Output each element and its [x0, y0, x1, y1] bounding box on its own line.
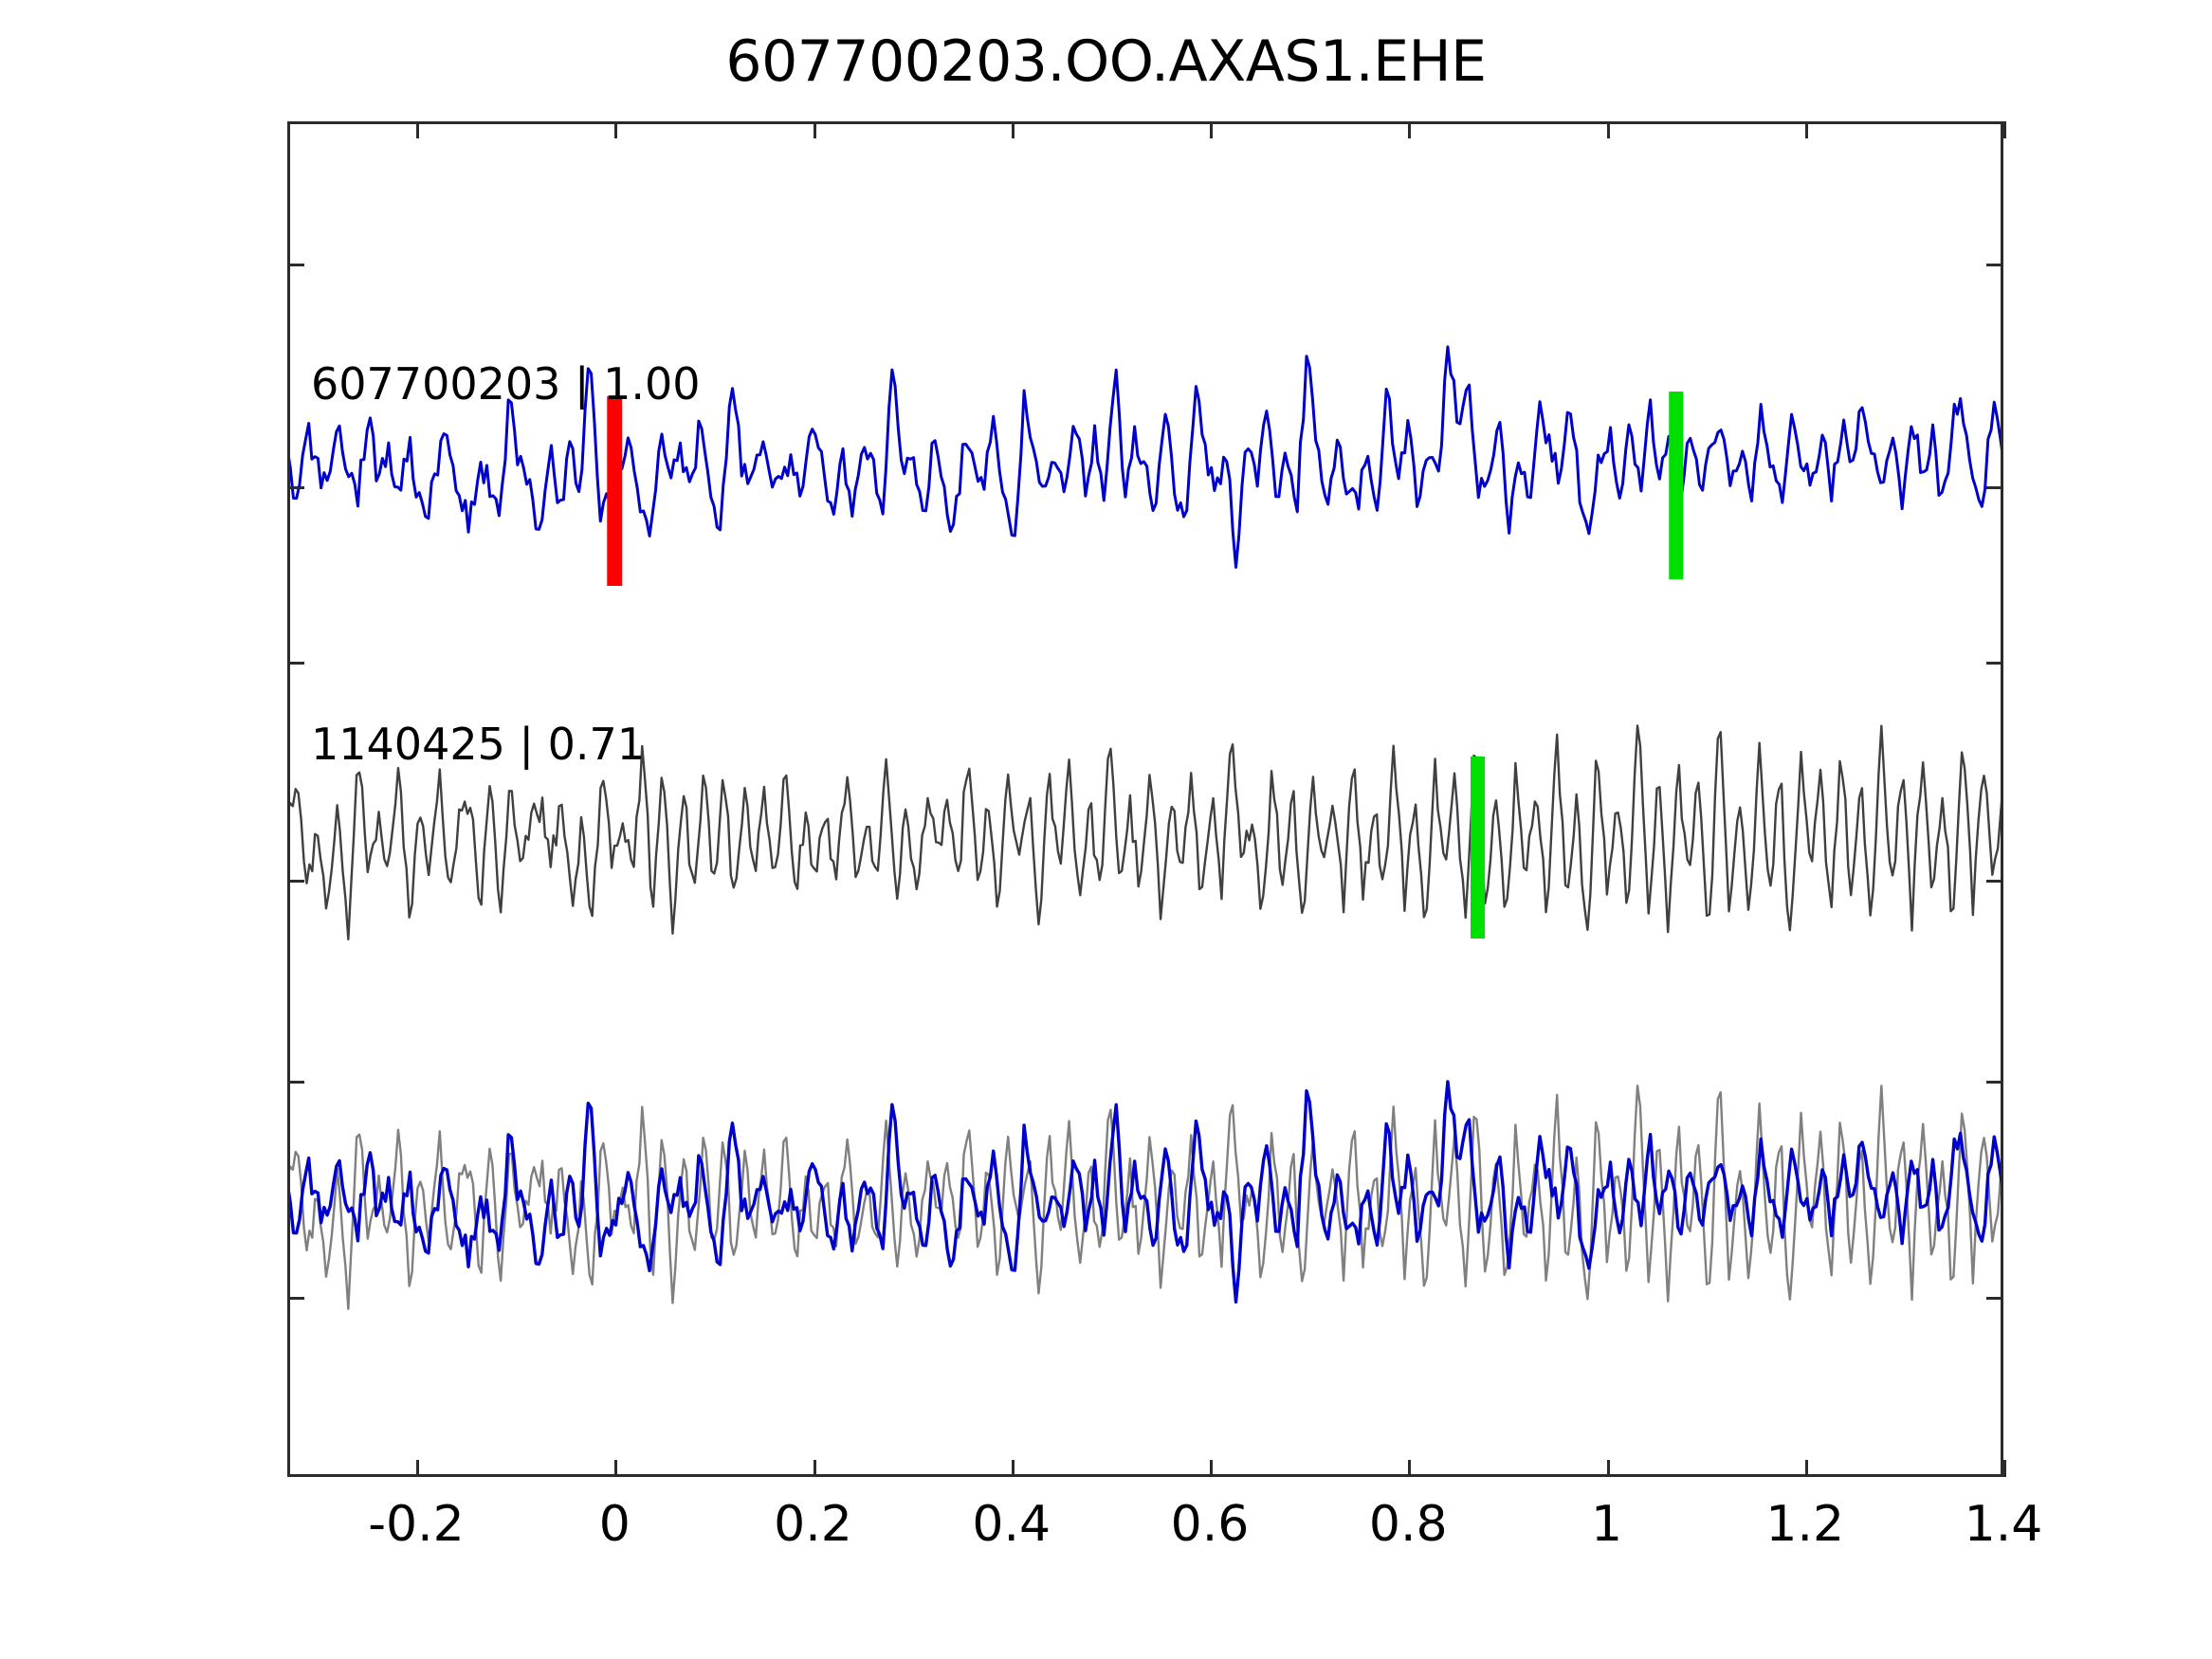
x-tick-top: [1012, 121, 1015, 138]
pick-marker-detection-green: [1471, 757, 1485, 939]
x-tick-bottom: [1012, 1460, 1015, 1477]
x-tick-top: [1607, 121, 1610, 138]
y-tick: [287, 880, 304, 883]
y-tick: [287, 662, 304, 665]
y-tick: [1986, 1297, 2003, 1300]
y-tick: [287, 486, 304, 489]
x-tick-label: 1.4: [1965, 1496, 2043, 1553]
y-tick: [1986, 264, 2003, 266]
x-tick-label: -0.2: [368, 1496, 464, 1553]
x-tick-top: [614, 121, 617, 138]
y-tick: [287, 1081, 304, 1084]
x-tick-bottom: [814, 1460, 816, 1477]
x-tick-bottom: [2003, 1460, 2006, 1477]
x-tick-top: [1805, 121, 1808, 138]
plot-area[interactable]: 607700203 | 1.00 1140425 | 0.71: [287, 121, 2003, 1477]
x-tick-bottom: [416, 1460, 419, 1477]
x-tick-bottom: [1210, 1460, 1213, 1477]
x-tick-top: [1408, 121, 1411, 138]
waveform-traces: [287, 121, 2003, 1477]
pick-marker-template-green: [1669, 392, 1683, 579]
y-tick: [1986, 486, 2003, 489]
x-tick-top: [2003, 121, 2006, 138]
y-tick: [287, 264, 304, 266]
y-tick: [1986, 1081, 2003, 1084]
figure-canvas: 607700203.OO.AXAS1.EHE 607700203 | 1.00 …: [0, 0, 2212, 1659]
y-tick: [1986, 662, 2003, 665]
x-tick-label: 0.4: [972, 1496, 1051, 1553]
pick-marker-template-red: [607, 396, 622, 586]
y-tick: [287, 1297, 304, 1300]
x-tick-bottom: [614, 1460, 617, 1477]
x-tick-label: 1: [1591, 1496, 1622, 1553]
detection-trace-label: 1140425 | 0.71: [311, 719, 645, 770]
y-tick: [1986, 880, 2003, 883]
x-tick-label: 0.8: [1369, 1496, 1448, 1553]
x-tick-label: 0.6: [1171, 1496, 1250, 1553]
template-trace-label: 607700203 | 1.00: [311, 358, 701, 410]
x-tick-top: [1210, 121, 1213, 138]
x-tick-top: [814, 121, 816, 138]
x-tick-bottom: [1408, 1460, 1411, 1477]
chart-title: 607700203.OO.AXAS1.EHE: [0, 28, 2212, 95]
x-tick-label: 0: [599, 1496, 631, 1553]
x-tick-label: 0.2: [774, 1496, 852, 1553]
x-tick-bottom: [1805, 1460, 1808, 1477]
x-tick-label: 1.2: [1765, 1496, 1844, 1553]
x-tick-bottom: [1607, 1460, 1610, 1477]
x-tick-top: [416, 121, 419, 138]
